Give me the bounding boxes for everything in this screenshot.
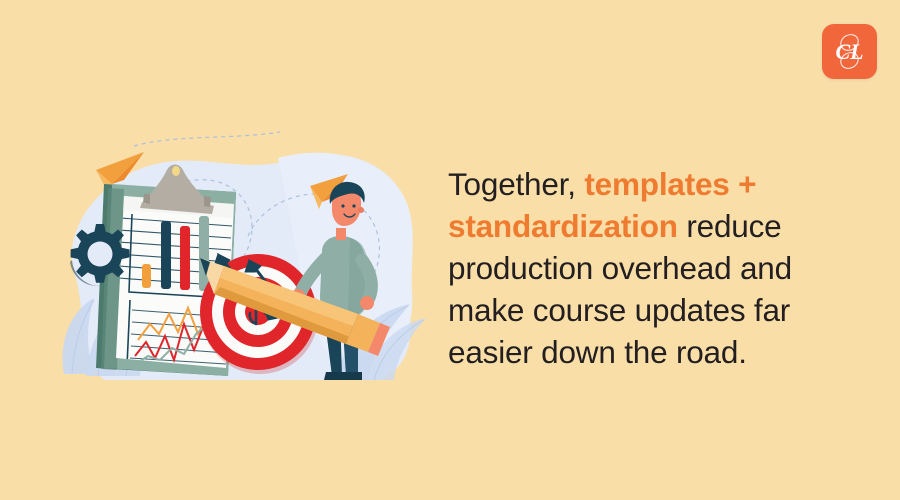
hero-illustration [28, 118, 438, 408]
ground-line [28, 380, 438, 408]
headline-text: Together, templates + standardization re… [448, 163, 868, 373]
headline-part-1: Together, [448, 166, 584, 202]
cl-monogram-icon: CL [822, 24, 877, 79]
slide-canvas: CL [0, 0, 900, 500]
logo-badge[interactable]: CL [822, 24, 877, 79]
svg-text:CL: CL [835, 39, 863, 64]
